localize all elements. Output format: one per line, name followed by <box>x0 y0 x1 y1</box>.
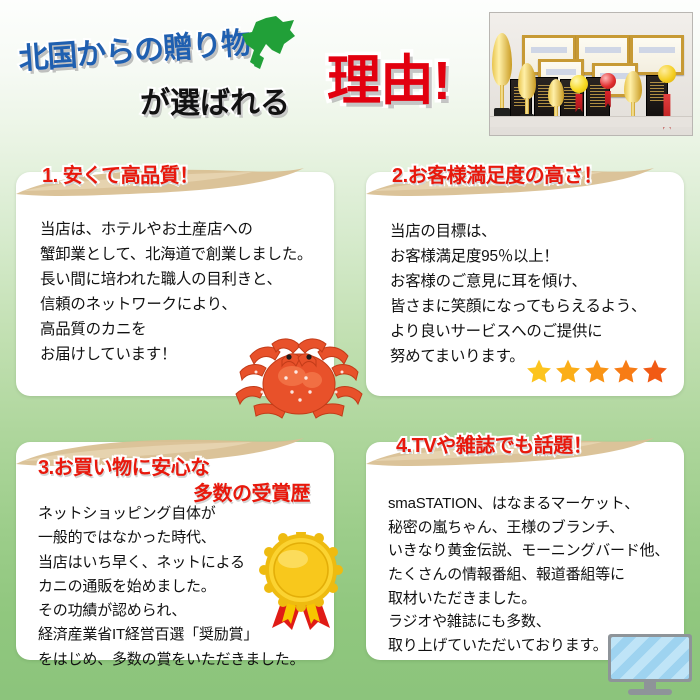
gold-medal-ribbon-icon <box>258 532 344 634</box>
header-subtitle: が選ばれる <box>140 78 290 122</box>
panel-4-body: smaSTATION、はなまるマーケット、 秘密の嵐ちゃん、王様のブランチ、 い… <box>388 492 672 658</box>
brand-logo: 北国からの贈り物 <box>18 22 288 84</box>
star-icon <box>526 358 552 384</box>
panel-3-heading-line1: 3.お買い物に安心な <box>38 457 210 479</box>
star-icon <box>555 358 581 384</box>
feature-panel-4: 4.TVや雑誌でも話題！ smaSTATION、はなまるマーケット、 秘密の嵐ち… <box>366 442 684 660</box>
television-icon <box>608 634 692 696</box>
feature-panel-2: 2.お客様満足度の高さ！ 当店の目標は、 お客様満足度95％以上！ お客様のご意… <box>366 172 684 396</box>
header: 北国からの贈り物 が選ばれる 理由! <box>0 0 700 150</box>
star-icon <box>584 358 610 384</box>
king-crab-illustration <box>232 322 366 430</box>
tv-screen <box>608 634 692 682</box>
star-icon <box>642 358 668 384</box>
panel-2-body: 当店の目標は、 お客様満足度95％以上！ お客様のご意見に耳を傾け、 皆さまに笑… <box>390 220 672 370</box>
panel-4-heading: 4.TVや雑誌でも話題！ <box>396 434 674 458</box>
promotional-banner: 北国からの贈り物 が選ばれる 理由! <box>0 0 700 700</box>
star-rating <box>526 358 668 384</box>
panel-2-heading: 2.お客様満足度の高さ！ <box>392 164 674 188</box>
awards-photo <box>489 12 693 136</box>
panel-1-heading: 1. 安くて高品質！ <box>42 164 324 188</box>
tv-stand-foot <box>628 689 672 695</box>
star-icon <box>613 358 639 384</box>
brand-logo-text: 北国からの贈り物 <box>17 18 252 78</box>
header-reason-title: 理由! <box>327 54 450 108</box>
hokkaido-map-icon <box>236 14 298 74</box>
